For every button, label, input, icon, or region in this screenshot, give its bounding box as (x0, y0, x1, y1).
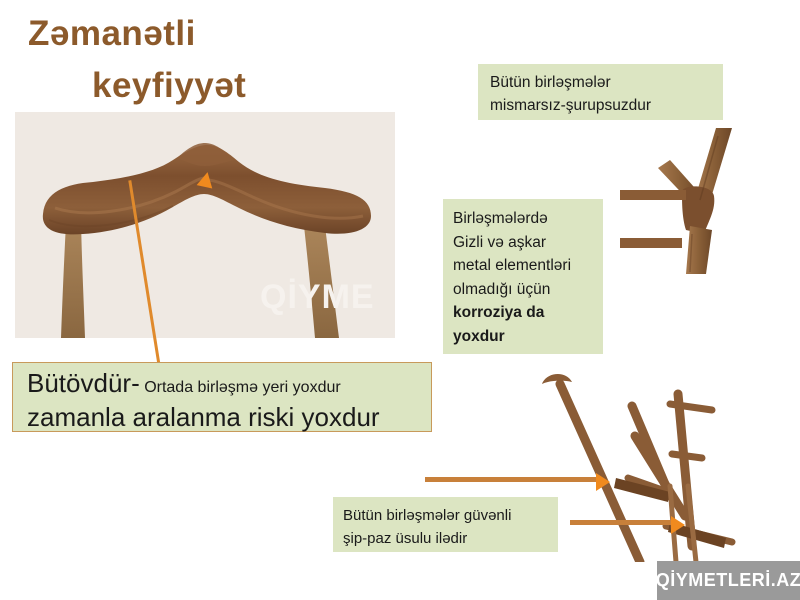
callout-no-metal-corrosion: Birləşmələrdə Gizli və aşkar metal eleme… (443, 199, 603, 354)
arrow-to-upper-joint-head (596, 473, 610, 491)
callout-corrosion-line-5: korroziya da (453, 301, 603, 325)
page-title-line-1: Zəmanətli (28, 14, 196, 54)
callout-solid-line-2: zamanla aralanma riski yoxdur (27, 402, 431, 433)
callout-solid-sub: Ortada birləşmə yeri yoxdur (144, 379, 341, 396)
callout-corrosion-line-4: olmadığı üçün (453, 278, 603, 302)
callout-no-nails-line-2: mismarsız-şurupsuzdur (490, 94, 711, 117)
frame-illustration (520, 366, 800, 562)
callout-no-nails-line-1: Bütün birləşmələr (490, 71, 711, 94)
joint-illustration (620, 126, 800, 274)
callout-corrosion-line-2: Gizli və aşkar (453, 231, 603, 255)
wooden-joint-photo (620, 126, 800, 274)
callout-joinery-line-1: Bütün birləşmələr güvənli (343, 504, 558, 527)
callout-no-nails-screws: Bütün birləşmələr mismarsız-şurupsuzdur (478, 64, 723, 120)
arrow-to-lower-joint-head (671, 516, 685, 534)
callout-solid-heading: Bütövdür- (27, 368, 140, 398)
arrow-to-upper-joint (425, 477, 600, 482)
arrow-to-center-joint-head (197, 171, 216, 189)
page-title-line-2: keyfiyyət (92, 66, 246, 106)
wooden-frame-photo (520, 366, 800, 562)
arrow-to-lower-joint (570, 520, 675, 525)
wooden-valet-stand-photo: QİYME (15, 112, 395, 338)
callout-solid-piece: Bütövdür- Ortada birləşmə yeri yoxdur za… (12, 362, 432, 432)
site-logo[interactable]: QİYMETLERİ.AZ (657, 561, 800, 600)
valet-stand-illustration: QİYME (15, 112, 395, 338)
callout-corrosion-line-6: yoxdur (453, 325, 603, 349)
callout-safe-joinery: Bütün birləşmələr güvənli şip-paz üsulu … (333, 497, 558, 552)
svg-text:QİYME: QİYME (260, 278, 375, 316)
slide-canvas: Zəmanətli keyfiyyət (0, 0, 800, 600)
callout-corrosion-line-3: metal elementləri (453, 254, 603, 278)
callout-corrosion-line-1: Birləşmələrdə (453, 207, 603, 231)
callout-joinery-line-2: şip-paz üsulu ilədir (343, 527, 558, 550)
